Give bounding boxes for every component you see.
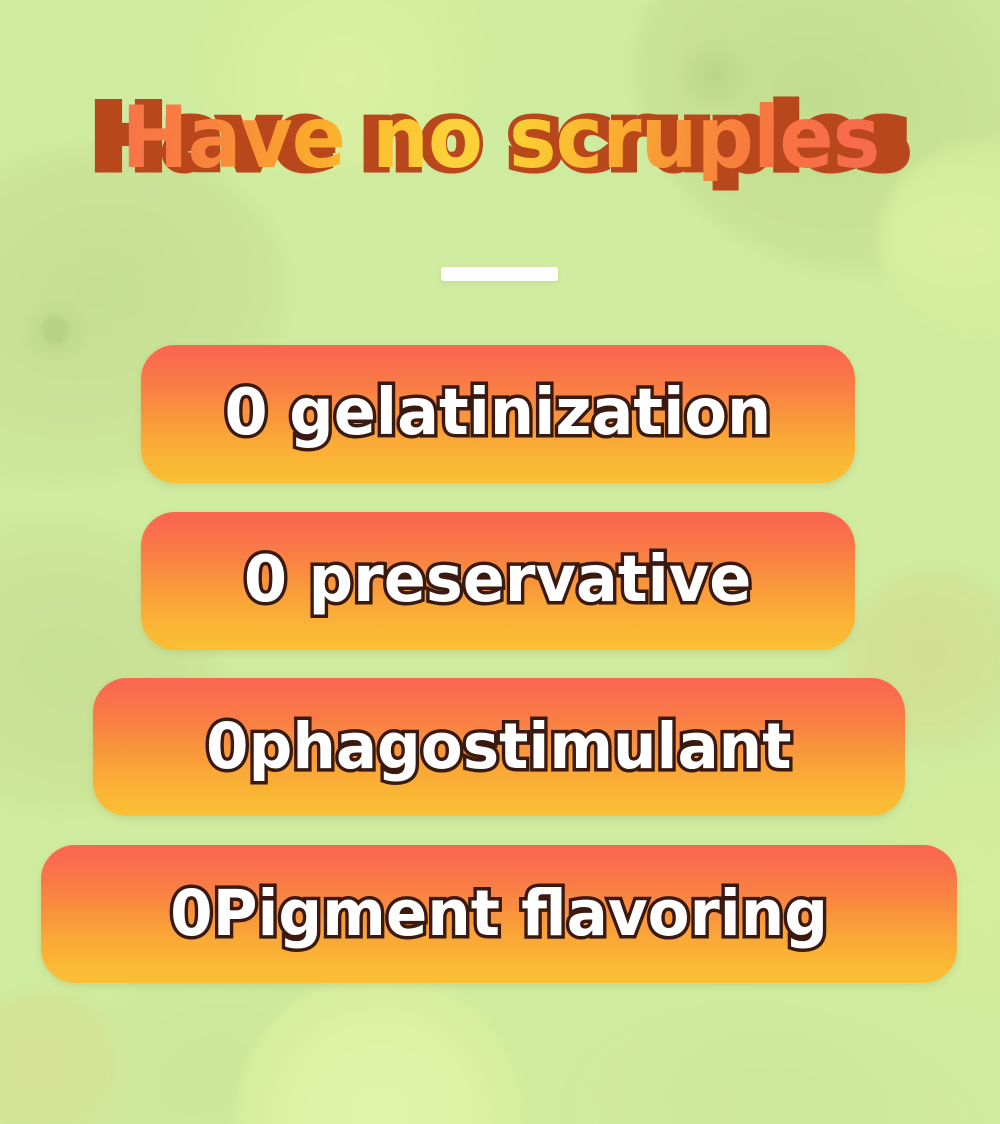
title-divider: [441, 267, 558, 281]
feature-pill-phagostimulant: 0phagostimulant: [93, 678, 905, 816]
title-block: Have no scruples Have no scruples: [0, 95, 1000, 181]
feature-pill-pigment-flavoring: 0Pigment flavoring: [41, 845, 957, 983]
feature-pill-label: 0Pigment flavoring: [170, 882, 828, 945]
promo-banner: Have no scruples Have no scruples 0 gela…: [0, 0, 1000, 1124]
feature-pill-label: 0 preservative: [244, 548, 752, 612]
page-title: Have no scruples Have no scruples: [93, 95, 908, 181]
feature-pill-preservative: 0 preservative: [141, 512, 855, 650]
feature-pill-gelatinization: 0 gelatinization: [141, 345, 855, 483]
feature-pill-label: 0 gelatinization: [225, 381, 772, 445]
feature-pill-label: 0phagostimulant: [206, 715, 791, 778]
page-title-fill: Have no scruples: [121, 95, 879, 181]
